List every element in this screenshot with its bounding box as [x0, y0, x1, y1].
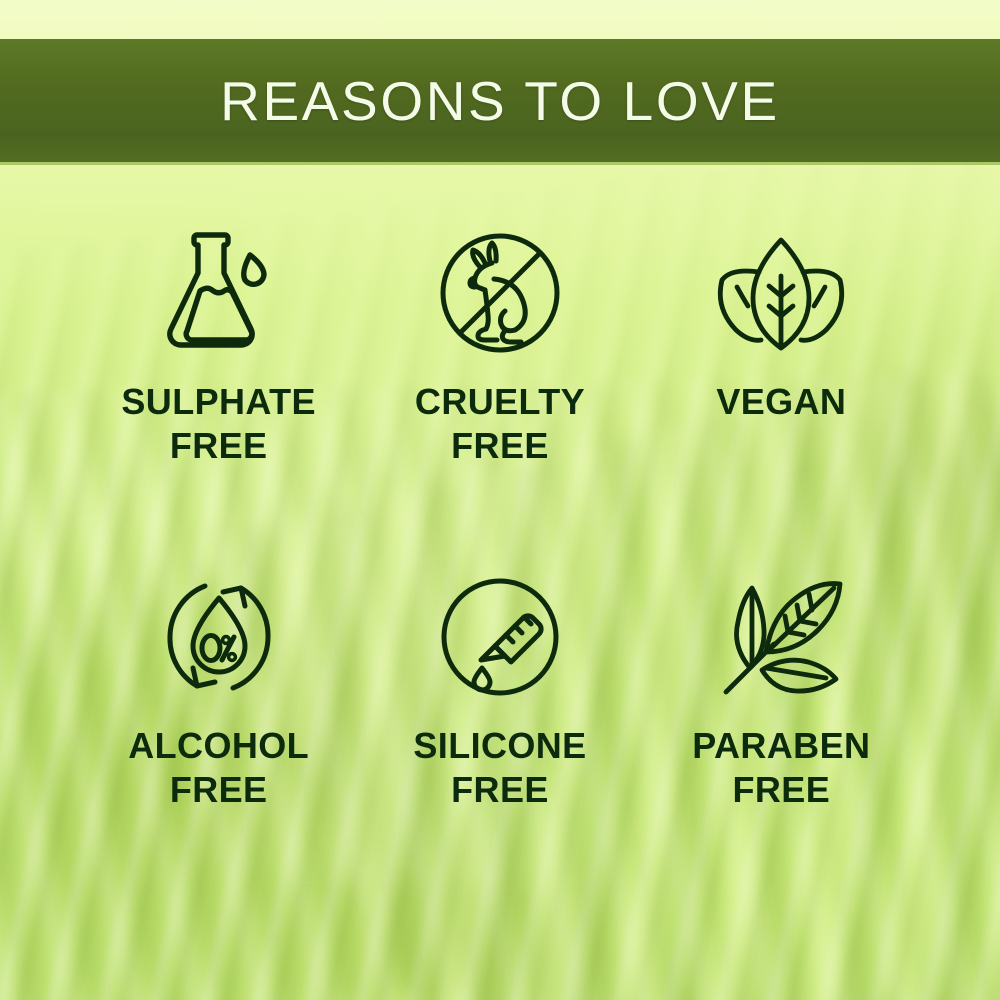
- feature-label: SILICONE FREE: [413, 724, 586, 813]
- feature-sulphate-free: SULPHATE FREE: [78, 220, 359, 562]
- feature-paraben-free: PARABEN FREE: [641, 562, 922, 904]
- leaf-sprig-icon: [706, 562, 856, 712]
- feature-label: PARABEN FREE: [692, 724, 870, 813]
- page-title: REASONS TO LOVE: [220, 69, 780, 133]
- feature-label: VEGAN: [716, 380, 846, 424]
- feature-label: ALCOHOL FREE: [128, 724, 309, 813]
- feature-label: SULPHATE FREE: [121, 380, 316, 469]
- three-leaves-icon: [706, 220, 856, 366]
- no-rabbit-icon: [425, 220, 575, 366]
- pipette-dropper-icon: [425, 562, 575, 712]
- feature-silicone-free: SILICONE FREE: [359, 562, 640, 904]
- features-grid: SULPHATE FREE: [0, 162, 1000, 1000]
- flask-droplet-icon: [144, 220, 294, 366]
- header-band: REASONS TO LOVE: [0, 39, 1000, 162]
- feature-cruelty-free: CRUELTY FREE: [359, 220, 640, 562]
- reasons-to-love-poster: REASONS TO LOVE SULPHATE FREE: [0, 0, 1000, 1000]
- zero-percent-droplet-icon: [144, 562, 294, 712]
- feature-alcohol-free: ALCOHOL FREE: [78, 562, 359, 904]
- feature-vegan: VEGAN: [641, 220, 922, 562]
- feature-label: CRUELTY FREE: [415, 380, 585, 469]
